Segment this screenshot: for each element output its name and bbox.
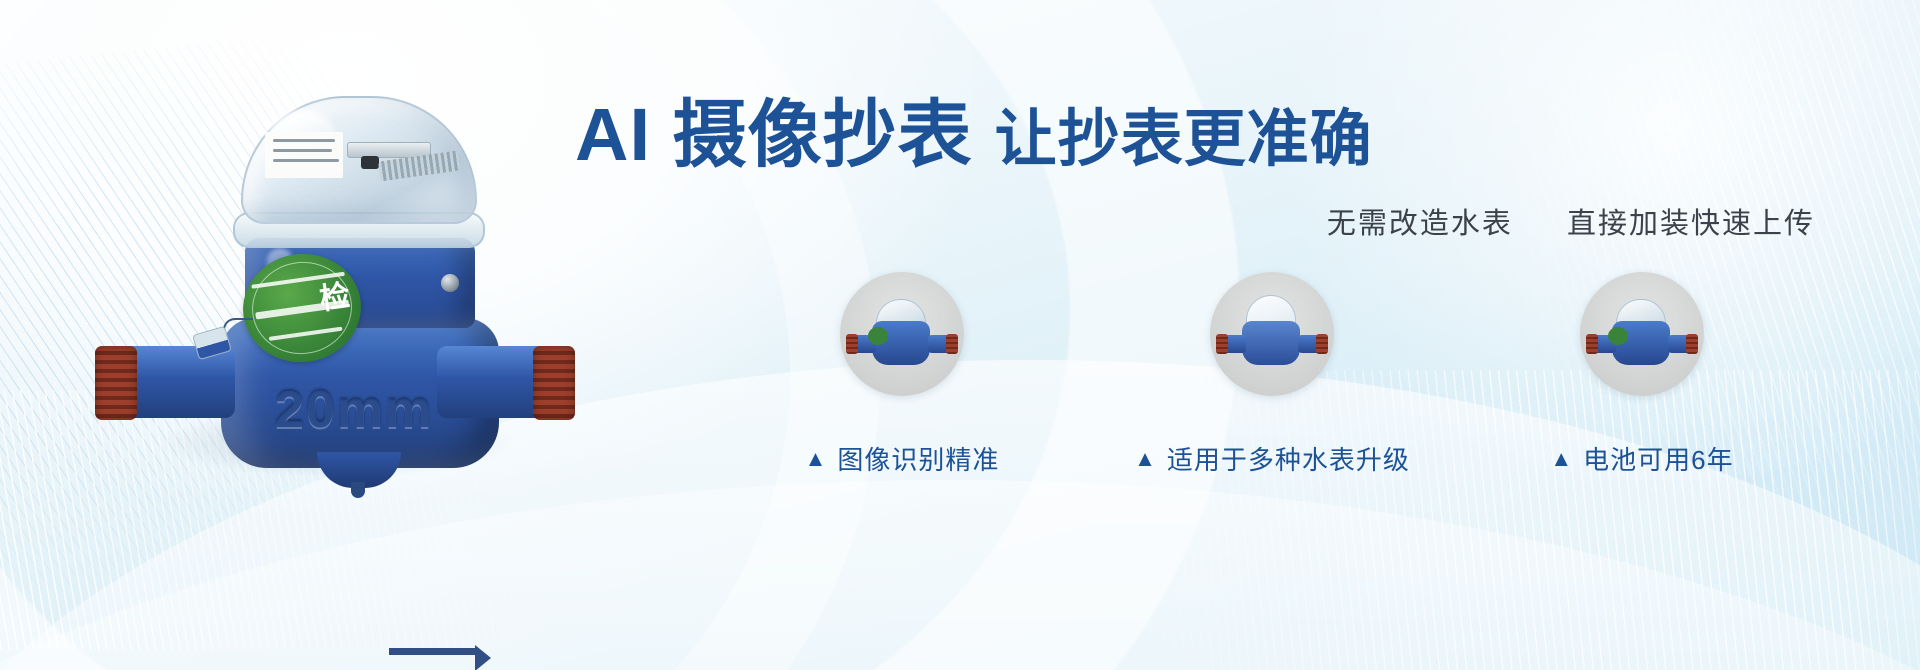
product-inlet-thread: [95, 346, 137, 420]
feature-thumbnail-battery: [1580, 272, 1704, 396]
housing-screw-icon: [441, 274, 459, 292]
flow-direction-arrow-icon: [389, 648, 475, 655]
feature-item-recognition: ▲ 图像识别精准: [742, 272, 1062, 477]
dome-spec-label: [265, 132, 343, 178]
feature-caption-compatibility: ▲ 适用于多种水表升级: [1112, 440, 1432, 477]
product-bottom-cap: [317, 452, 401, 488]
feature-thumbnail-compatibility: [1210, 272, 1334, 396]
headline-secondary: 让抄表更准确: [995, 107, 1373, 173]
sensor-wire-connector: [195, 314, 259, 358]
hero-product-image: DN 检: [95, 78, 575, 498]
subheadline-left: 无需改造水表: [1327, 208, 1513, 240]
feature-item-compatibility: ▲ 适用于多种水表升级: [1112, 272, 1432, 477]
product-outlet-thread: [533, 346, 575, 420]
product-camera-dome: [241, 96, 477, 224]
feature-label: 电池可用6年: [1583, 440, 1733, 477]
feature-thumbnail-recognition: [840, 272, 964, 396]
banner-text-block: AI 摄像抄表 让抄表更准确 无需改造水表 直接加装快速上传: [575, 96, 1875, 242]
triangle-marker-icon: ▲: [805, 448, 828, 470]
subheadline-right: 直接加装快速上传: [1567, 208, 1815, 240]
feature-list: ▲ 图像识别精准 ▲ 适用于多种水表升级: [742, 272, 1802, 477]
seal-character: 检: [318, 281, 352, 315]
feature-caption-battery: ▲ 电池可用6年: [1482, 440, 1802, 477]
promo-banner: DN 检 AI 摄像抄表: [0, 0, 1920, 670]
triangle-marker-icon: ▲: [1550, 448, 1573, 470]
headline-main: AI 摄像抄表: [575, 96, 973, 174]
subheadline: 无需改造水表 直接加装快速上传: [575, 200, 1875, 242]
triangle-marker-icon: ▲: [1134, 448, 1157, 470]
feature-label: 图像识别精准: [837, 440, 999, 477]
feature-item-battery: ▲ 电池可用6年: [1482, 272, 1802, 477]
feature-label: 适用于多种水表升级: [1167, 440, 1410, 477]
camera-lens-icon: [361, 156, 379, 169]
feature-caption-recognition: ▲ 图像识别精准: [742, 440, 1062, 477]
headline: AI 摄像抄表 让抄表更准确: [575, 96, 1875, 174]
